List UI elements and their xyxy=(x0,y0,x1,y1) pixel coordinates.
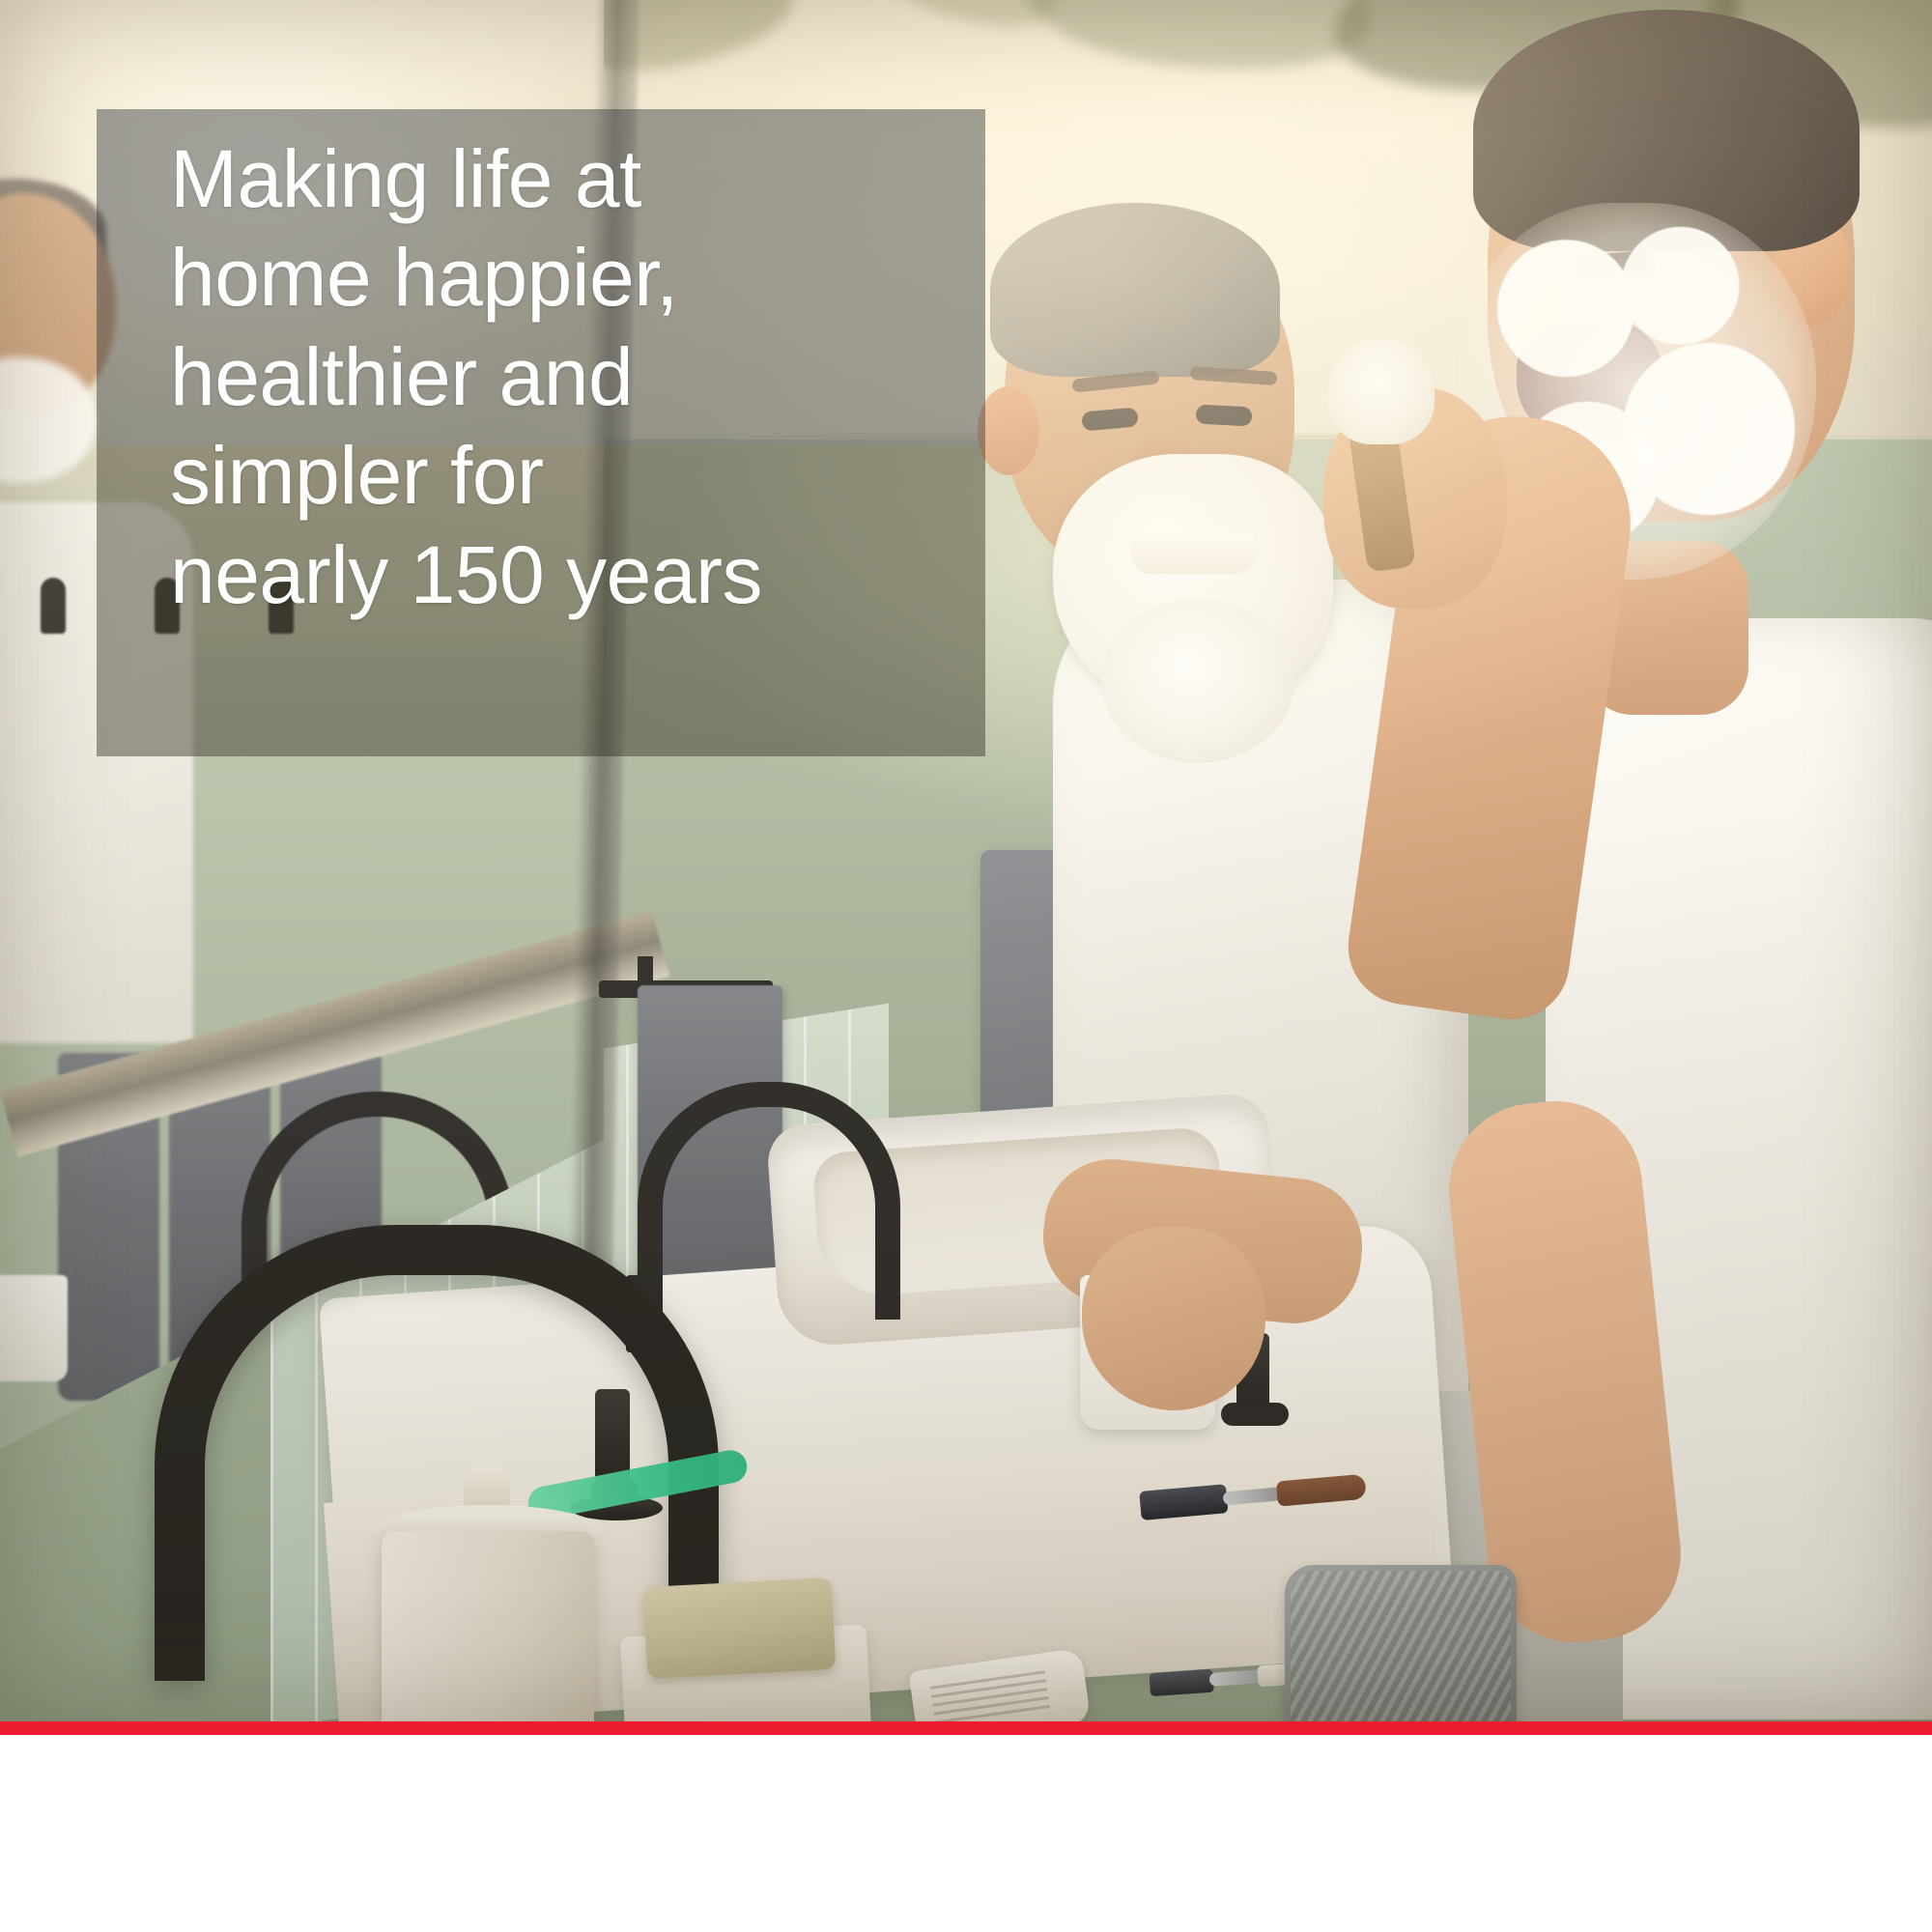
razor-handle xyxy=(1276,1474,1367,1507)
shaving-brush-head xyxy=(1328,338,1435,444)
ceramic-canister xyxy=(382,1531,594,1721)
soap-bar xyxy=(643,1577,837,1679)
father-hand xyxy=(1082,1227,1265,1410)
faucet-handle xyxy=(595,1389,630,1482)
faucet-rear xyxy=(638,1082,900,1320)
footer-bar: American Standard xyxy=(0,1735,1932,1932)
razor-neck xyxy=(1209,1669,1263,1687)
faucet-handle-lever xyxy=(1221,1403,1289,1426)
wall-hook-icon xyxy=(41,578,66,634)
brand-accent-bar xyxy=(0,1721,1932,1735)
razor-neck xyxy=(1223,1487,1282,1505)
razor-blade-head xyxy=(1149,1669,1214,1697)
reflected-cup xyxy=(0,1275,68,1381)
headline-text: Making life at home happier, healthier a… xyxy=(170,129,943,624)
father-shaving-foam-chin xyxy=(1101,599,1294,763)
father-hair xyxy=(990,203,1280,377)
folded-hand-towel xyxy=(1285,1565,1517,1721)
father-smile xyxy=(1130,531,1256,574)
brand-image-canvas: Making life at home happier, healthier a… xyxy=(0,0,1932,1932)
father-ear xyxy=(978,386,1039,475)
razor-blade-head xyxy=(1139,1484,1228,1520)
father-eye xyxy=(1196,404,1253,426)
